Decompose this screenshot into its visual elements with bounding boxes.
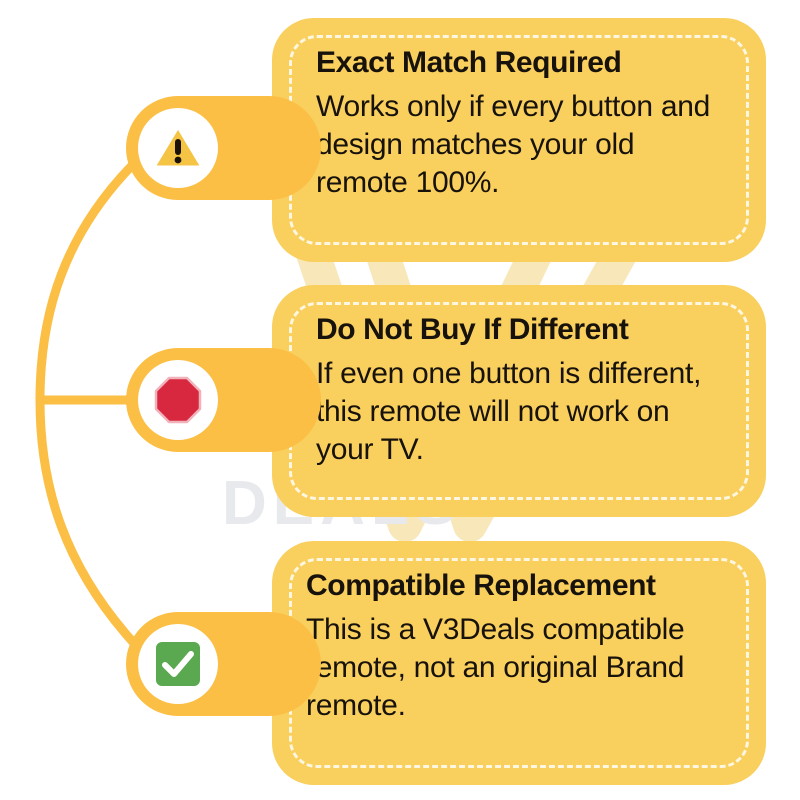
card-body: If even one button is different, this re… — [316, 355, 732, 469]
card-title: Compatible Replacement — [306, 569, 750, 603]
card-body: Works only if every button and design ma… — [316, 88, 732, 202]
infographic-canvas: DEALS Exact Match Required Works only if… — [0, 0, 800, 800]
card-exact-match-required: Exact Match Required Works only if every… — [272, 18, 766, 262]
card-compatible-replacement: Compatible Replacement This is a V3Deals… — [272, 541, 766, 785]
check-square-icon — [138, 624, 218, 704]
card-do-not-buy-if-different: Do Not Buy If Different If even one butt… — [272, 285, 766, 517]
card-title: Do Not Buy If Different — [316, 313, 732, 347]
card-title: Exact Match Required — [316, 46, 732, 80]
warning-triangle-icon — [138, 108, 218, 188]
stop-sign-icon — [138, 360, 218, 440]
card-body: This is a V3Deals compatible remote, not… — [306, 611, 750, 725]
